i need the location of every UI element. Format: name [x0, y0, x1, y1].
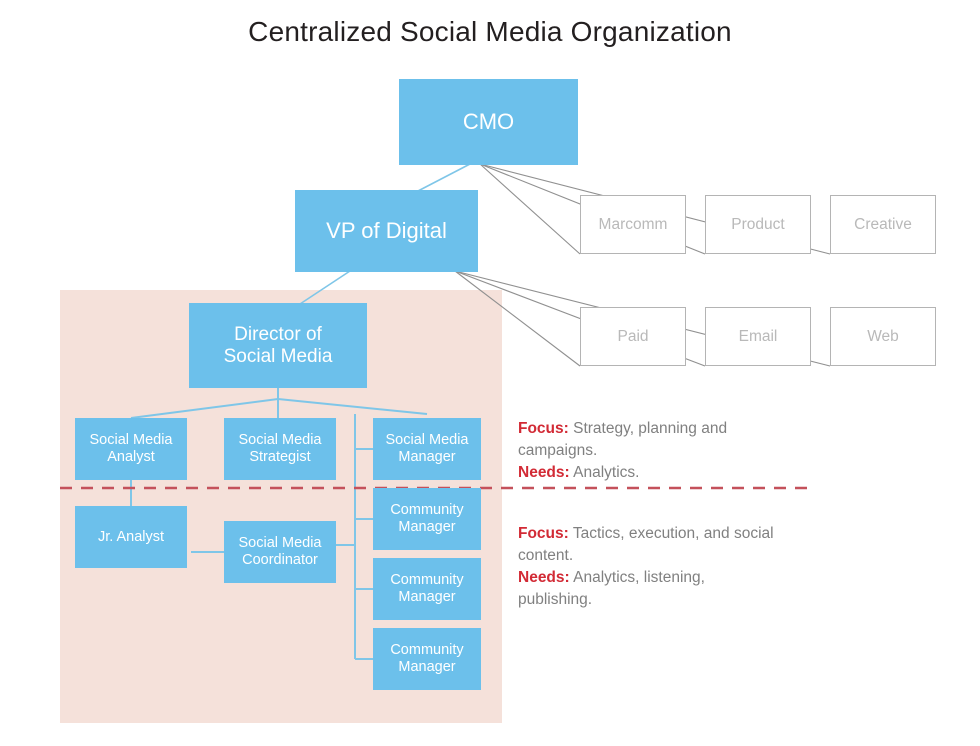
node-marcomm[interactable]: Marcomm — [580, 195, 686, 254]
node-social-media-coordinator[interactable]: Social Media Coordinator — [224, 521, 336, 583]
annotation-tactical-line-3: Needs: Analytics, listening, — [518, 567, 774, 589]
node-director-of-social-media[interactable]: Director of Social Media — [189, 303, 367, 388]
annotation-tactical: Focus: Tactics, execution, and socialcon… — [518, 523, 774, 611]
node-social-media-manager[interactable]: Social Media Manager — [373, 418, 481, 480]
node-product[interactable]: Product — [705, 195, 811, 254]
annotation-tactical-text: content. — [518, 547, 573, 564]
node-social-media-strategist[interactable]: Social Media Strategist — [224, 418, 336, 480]
node-community-manager-2[interactable]: Community Manager — [373, 558, 481, 620]
annotation-tactical-text: Tactics, execution, and social — [569, 525, 774, 542]
annotation-strategic-line-2: campaigns. — [518, 440, 727, 462]
annotation-tactical-label: Focus: — [518, 525, 569, 542]
annotation-tactical-line-2: content. — [518, 545, 774, 567]
annotation-strategic-line-1: Focus: Strategy, planning and — [518, 418, 727, 440]
node-cmo[interactable]: CMO — [399, 79, 578, 165]
page-title: Centralized Social Media Organization — [0, 16, 980, 48]
node-jr-analyst[interactable]: Jr. Analyst — [75, 506, 187, 568]
annotation-tactical-line-1: Focus: Tactics, execution, and social — [518, 523, 774, 545]
node-web[interactable]: Web — [830, 307, 936, 366]
annotation-tactical-label: Needs: — [518, 569, 570, 586]
node-social-media-analyst[interactable]: Social Media Analyst — [75, 418, 187, 480]
annotation-strategic-text: Analytics. — [570, 464, 640, 481]
annotation-tactical-line-4: publishing. — [518, 589, 774, 611]
annotation-strategic: Focus: Strategy, planning andcampaigns.N… — [518, 418, 727, 484]
node-email[interactable]: Email — [705, 307, 811, 366]
annotation-strategic-text: Strategy, planning and — [569, 420, 727, 437]
node-creative[interactable]: Creative — [830, 195, 936, 254]
annotation-strategic-line-3: Needs: Analytics. — [518, 462, 727, 484]
annotation-tactical-text: publishing. — [518, 591, 592, 608]
annotation-tactical-text: Analytics, listening, — [570, 569, 705, 586]
node-community-manager-1[interactable]: Community Manager — [373, 488, 481, 550]
annotation-strategic-label: Needs: — [518, 464, 570, 481]
annotation-strategic-text: campaigns. — [518, 442, 597, 459]
cmo-to-vp-connector — [418, 164, 470, 191]
annotation-strategic-label: Focus: — [518, 420, 569, 437]
node-paid[interactable]: Paid — [580, 307, 686, 366]
node-vp-of-digital[interactable]: VP of Digital — [295, 190, 478, 272]
node-community-manager-3[interactable]: Community Manager — [373, 628, 481, 690]
